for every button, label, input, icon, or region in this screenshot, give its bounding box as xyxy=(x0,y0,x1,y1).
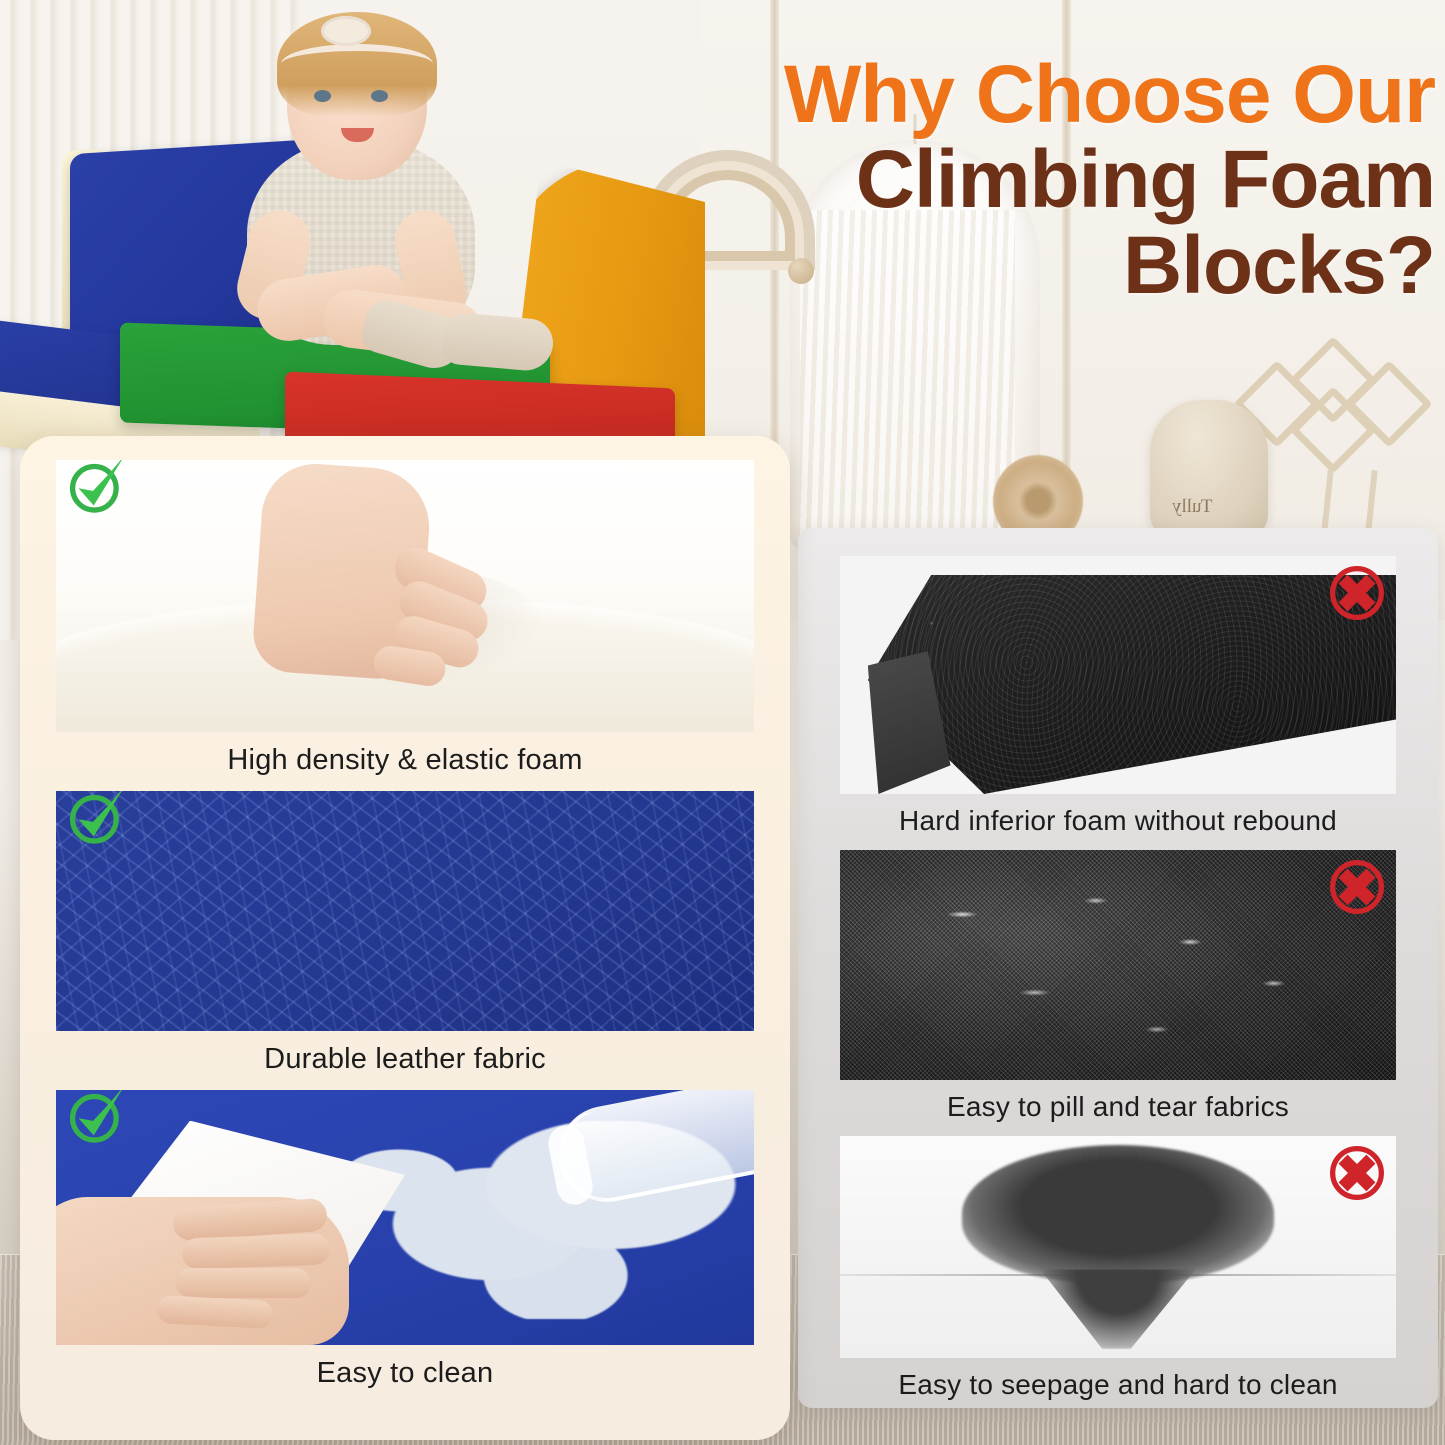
pro-caption: Easy to clean xyxy=(56,1345,754,1404)
page-title: Why Choose Our Climbing Foam Blocks? xyxy=(640,52,1435,308)
black-hard-foam-photo xyxy=(840,556,1396,794)
baby-figure xyxy=(195,10,525,390)
baby-headband xyxy=(281,44,433,84)
pros-card: High density & elastic foam Durable leat… xyxy=(20,436,790,1440)
pro-item-clean: Easy to clean xyxy=(56,1090,754,1404)
cons-card: Hard inferior foam without rebound Easy … xyxy=(798,528,1438,1408)
hero-product-photo xyxy=(0,0,720,460)
con-item-hard-foam: Hard inferior foam without rebound xyxy=(840,556,1396,850)
wiping-hand xyxy=(56,1197,349,1345)
infographic-canvas: Tully Why Choose xyxy=(0,0,1445,1445)
con-caption: Hard inferior foam without rebound xyxy=(840,794,1396,850)
baby-eye-left xyxy=(314,90,331,102)
pressing-hand xyxy=(251,460,433,681)
hand-wiping-milk-spill-photo xyxy=(56,1090,754,1345)
title-line-2: Climbing Foam xyxy=(640,137,1435,222)
seepage-drip xyxy=(1040,1269,1196,1349)
pro-caption: High density & elastic foam xyxy=(56,732,754,791)
con-caption: Easy to seepage and hard to clean xyxy=(840,1358,1396,1414)
plush-backpack: Tully xyxy=(1150,400,1268,540)
title-line-3: Blocks? xyxy=(640,223,1435,308)
pro-caption: Durable leather fabric xyxy=(56,1031,754,1090)
con-item-seepage: Easy to seepage and hard to clean xyxy=(840,1136,1396,1414)
seepage-stain xyxy=(962,1145,1273,1283)
baby-eye-right xyxy=(371,90,388,102)
stain-seeping-through-fabric-photo xyxy=(840,1136,1396,1358)
pilled-torn-gray-fabric-photo xyxy=(840,850,1396,1080)
pro-item-leather: Durable leather fabric xyxy=(56,791,754,1090)
hand-pressing-white-foam-photo xyxy=(56,460,754,732)
backpack-label: Tully xyxy=(1172,496,1213,518)
con-item-pilling: Easy to pill and tear fabrics xyxy=(840,850,1396,1136)
baby-headband-bow xyxy=(321,16,371,46)
red-cross-icon xyxy=(1328,1144,1386,1202)
green-check-icon xyxy=(64,791,130,847)
green-check-icon xyxy=(64,1090,130,1146)
baby-sock-right xyxy=(441,311,555,372)
con-caption: Easy to pill and tear fabrics xyxy=(840,1080,1396,1136)
pro-item-foam: High density & elastic foam xyxy=(56,460,754,791)
fabric-pills xyxy=(840,850,1396,1080)
title-line-1: Why Choose Our xyxy=(640,52,1435,137)
blue-leather-fabric-photo xyxy=(56,791,754,1031)
accordion-coat-rack xyxy=(1240,345,1445,495)
green-check-icon xyxy=(64,460,130,516)
